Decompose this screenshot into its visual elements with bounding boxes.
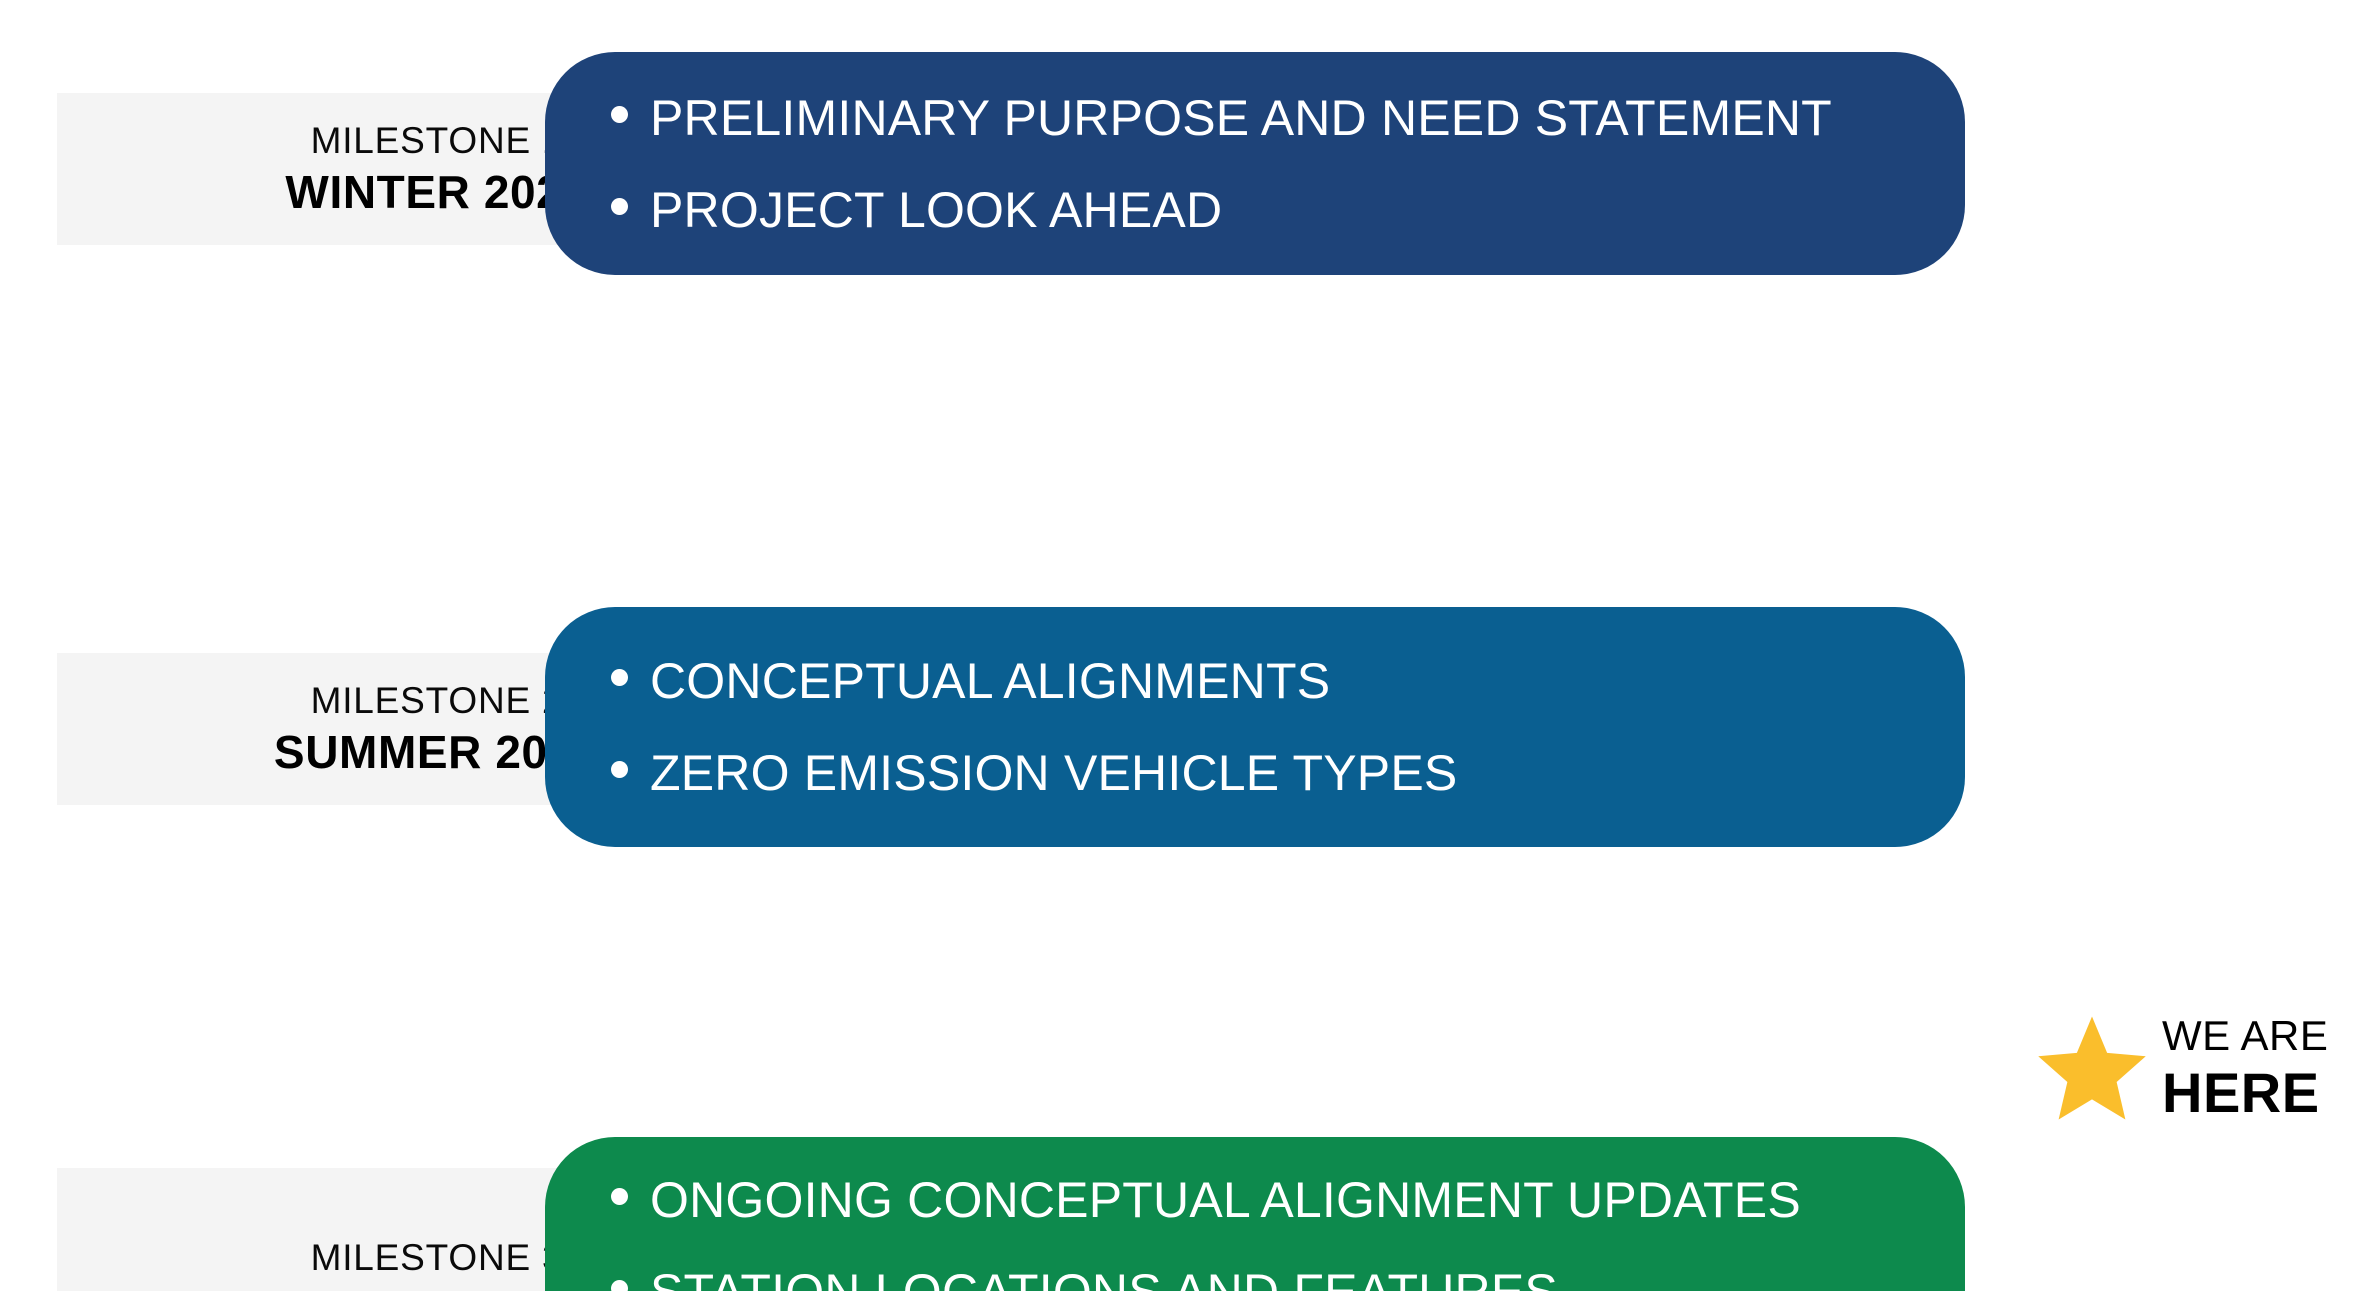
bullet-dot-icon — [611, 1188, 628, 1205]
milestone-bullet: PRELIMINARY PURPOSE AND NEED STATEMENT — [611, 93, 1925, 143]
milestone-row: MILESTONE 2 SUMMER 2024 CONCEPTUAL ALIGN… — [0, 300, 2376, 565]
here-label: HERE — [2162, 1065, 2328, 1121]
bullet-dot-icon — [611, 761, 628, 778]
bullet-text: ONGOING CONCEPTUAL ALIGNMENT UPDATES — [650, 1175, 1801, 1225]
milestone-content-box: PRELIMINARY PURPOSE AND NEED STATEMENT P… — [545, 52, 1965, 275]
bullet-text: CONCEPTUAL ALIGNMENTS — [650, 656, 1330, 706]
bullet-text: STATION LOCATIONS AND FEATURES — [650, 1267, 1558, 1291]
milestone-number: MILESTONE 3 — [311, 1235, 564, 1281]
bullet-dot-icon — [611, 106, 628, 123]
star-icon — [2036, 1012, 2148, 1124]
we-are-here-text: WE ARE HERE — [2162, 1015, 2328, 1121]
milestone-bullet: PROJECT LOOK AHEAD — [611, 185, 1925, 235]
milestone-number: MILESTONE 1 — [311, 118, 564, 164]
milestone-content-box: CONCEPTUAL ALIGNMENTS ZERO EMISSION VEHI… — [545, 607, 1965, 847]
milestone-season: FALL 2024 — [320, 1281, 555, 1291]
project-milestone-timeline: MILESTONE 1 WINTER 2024 PRELIMINARY PURP… — [0, 0, 2376, 1291]
milestone-number: MILESTONE 2 — [311, 678, 564, 724]
milestone-season: WINTER 2024 — [285, 165, 588, 220]
we-are-label: WE ARE — [2162, 1015, 2328, 1057]
milestone-bullet: CONCEPTUAL ALIGNMENTS — [611, 656, 1925, 706]
milestone-bullet: ONGOING CONCEPTUAL ALIGNMENT UPDATES — [611, 1175, 1925, 1225]
milestone-row: MILESTONE 1 WINTER 2024 PRELIMINARY PURP… — [0, 0, 2376, 300]
bullet-text: PRELIMINARY PURPOSE AND NEED STATEMENT — [650, 93, 1832, 143]
bullet-dot-icon — [611, 198, 628, 215]
bullet-dot-icon — [611, 1280, 628, 1291]
milestone-content-box: ONGOING CONCEPTUAL ALIGNMENT UPDATES STA… — [545, 1137, 1965, 1291]
bullet-dot-icon — [611, 669, 628, 686]
bullet-text: PROJECT LOOK AHEAD — [650, 185, 1222, 235]
milestone-bullet: ZERO EMISSION VEHICLE TYPES — [611, 748, 1925, 798]
we-are-here-marker: WE ARE HERE — [2036, 1012, 2328, 1124]
milestone-bullet: STATION LOCATIONS AND FEATURES — [611, 1267, 1925, 1291]
bullet-text: ZERO EMISSION VEHICLE TYPES — [650, 748, 1457, 798]
